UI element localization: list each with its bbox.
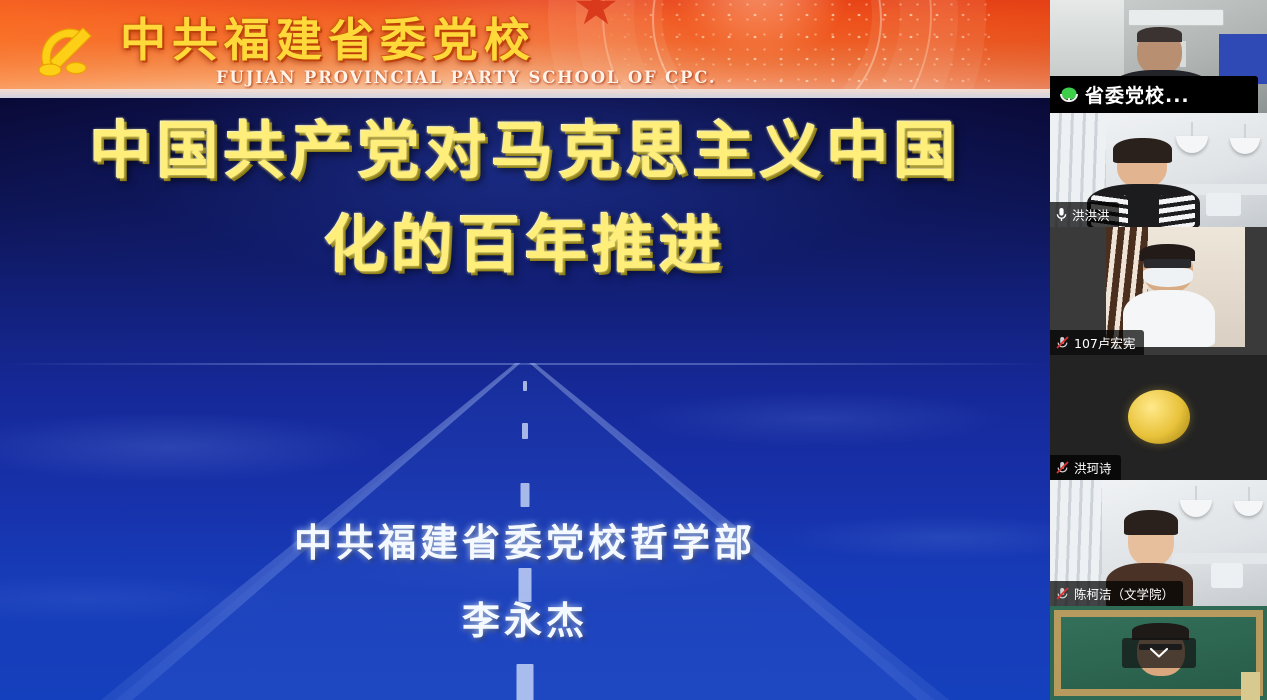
participant-tile[interactable]: 省委党校...: [1050, 0, 1267, 113]
ceiling-lamp: [1176, 136, 1208, 153]
participant-name: 洪珂诗: [1074, 458, 1112, 477]
road-dash: [517, 664, 534, 700]
participant-name-bar: 省委党校...: [1050, 76, 1258, 113]
slide-byline: 中共福建省委党校哲学部 李永杰: [0, 524, 1050, 640]
road-dash: [522, 423, 528, 439]
participant-name: 陈柯洁（文学院）: [1074, 584, 1174, 603]
participant-tile-active-speaker[interactable]: [1050, 606, 1267, 700]
mic-muted-icon: [1056, 587, 1069, 600]
meeting-screen-share-view: 中共福建省委党校 FUJIAN PROVINCIAL PARTY SCHOOL …: [0, 0, 1267, 700]
scroll-down-button[interactable]: [1122, 638, 1196, 668]
avatar: [1128, 389, 1190, 443]
mic-icon: [1056, 207, 1067, 222]
participant-name-bar: 陈柯洁（文学院）: [1050, 581, 1183, 606]
road-dash: [521, 483, 530, 507]
slide-title-line-2: 化的百年推进: [0, 198, 1050, 292]
participant-name-bar: 107卢宏宪: [1050, 330, 1144, 355]
slide-banner: 中共福建省委党校 FUJIAN PROVINCIAL PARTY SCHOOL …: [0, 0, 1050, 98]
slide-byline-org: 中共福建省委党校哲学部: [0, 524, 1050, 562]
hammer-and-sickle-icon: [28, 18, 114, 84]
participant-tile[interactable]: 洪洪洪: [1050, 113, 1267, 227]
participant-name: 洪洪洪: [1072, 205, 1110, 224]
participant-tile[interactable]: 107卢宏宪: [1050, 227, 1267, 355]
participant-name: 省委党校...: [1085, 81, 1190, 108]
participant-tile[interactable]: 洪珂诗: [1050, 355, 1267, 480]
participant-name-bar: 洪珂诗: [1050, 455, 1121, 480]
shared-slide[interactable]: 中共福建省委党校 FUJIAN PROVINCIAL PARTY SCHOOL …: [0, 0, 1050, 700]
ceiling-lamp: [1230, 138, 1260, 154]
participant-name-bar: 洪洪洪: [1050, 202, 1119, 227]
chevron-down-icon: [1149, 647, 1169, 659]
ceiling-lamp: [1180, 500, 1212, 517]
mic-muted-icon: [1056, 461, 1069, 474]
ceiling-lamp: [1234, 501, 1263, 516]
banner-title-cn: 中共福建省委党校: [120, 17, 536, 63]
road-dash: [523, 381, 527, 391]
mic-active-green-icon: [1058, 86, 1080, 104]
mic-muted-icon: [1056, 336, 1069, 349]
banner-title-en: FUJIAN PROVINCIAL PARTY SCHOOL OF CPC.: [216, 68, 716, 87]
participant-name: 107卢宏宪: [1074, 333, 1135, 352]
participant-tile[interactable]: 陈柯洁（文学院）: [1050, 480, 1267, 606]
slide-title: 中国共产党对马克思主义中国 化的百年推进: [0, 104, 1050, 292]
participant-filmstrip[interactable]: 省委党校...: [1050, 0, 1267, 700]
slide-title-line-1: 中国共产党对马克思主义中国: [0, 104, 1050, 198]
slide-byline-author: 李永杰: [0, 602, 1050, 640]
banner-base-strip: [0, 89, 1050, 98]
